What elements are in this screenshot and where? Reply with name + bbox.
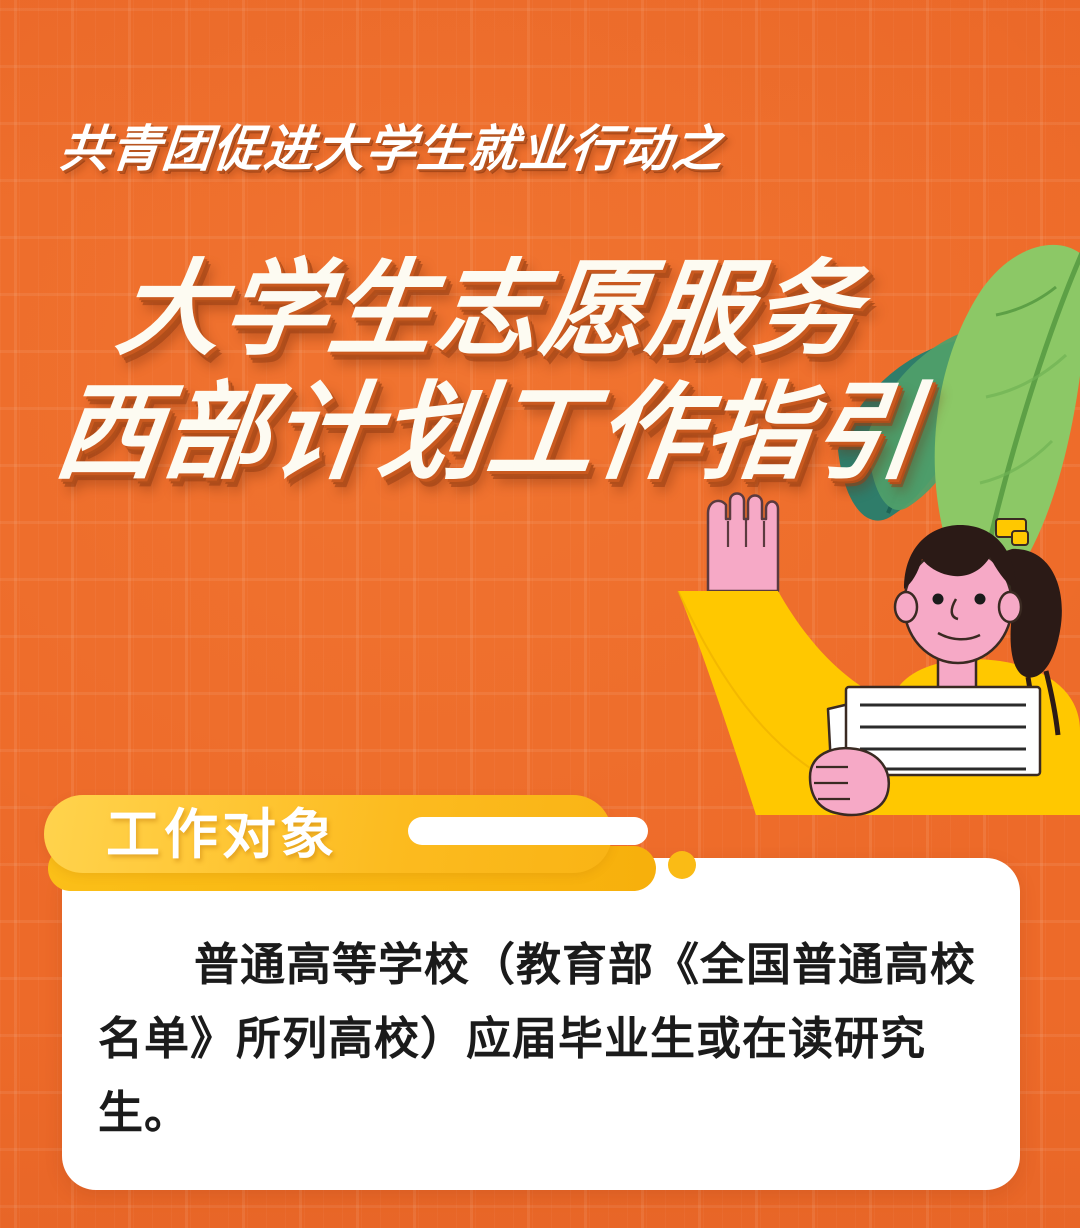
eye-right — [975, 594, 986, 605]
title-line-1: 大学生志愿服务 — [112, 258, 867, 362]
title-line-2: 西部计划工作指引 — [49, 380, 926, 486]
poster-title: 大学生志愿服务 西部计划工作指引 — [0, 258, 1080, 528]
raised-hand-icon — [708, 494, 778, 592]
section-body-text: 普通高等学校（教育部《全国普通高校名单》所列高校）应届毕业生或在读研究生。 — [98, 928, 1008, 1150]
section-heading-dot — [668, 851, 696, 879]
poster-root: 共青团促进大学生就业行动之 大学生志愿服务 西部计划工作指引 — [0, 0, 1080, 1228]
section-heading-white-stripe — [408, 817, 648, 845]
volunteer-student-illustration — [660, 495, 1080, 815]
eye-left — [933, 594, 944, 605]
section-heading-label: 工作对象 — [106, 805, 338, 865]
kicker-line: 共青团促进大学生就业行动之 — [58, 124, 725, 174]
gripping-hand-icon — [810, 748, 889, 815]
